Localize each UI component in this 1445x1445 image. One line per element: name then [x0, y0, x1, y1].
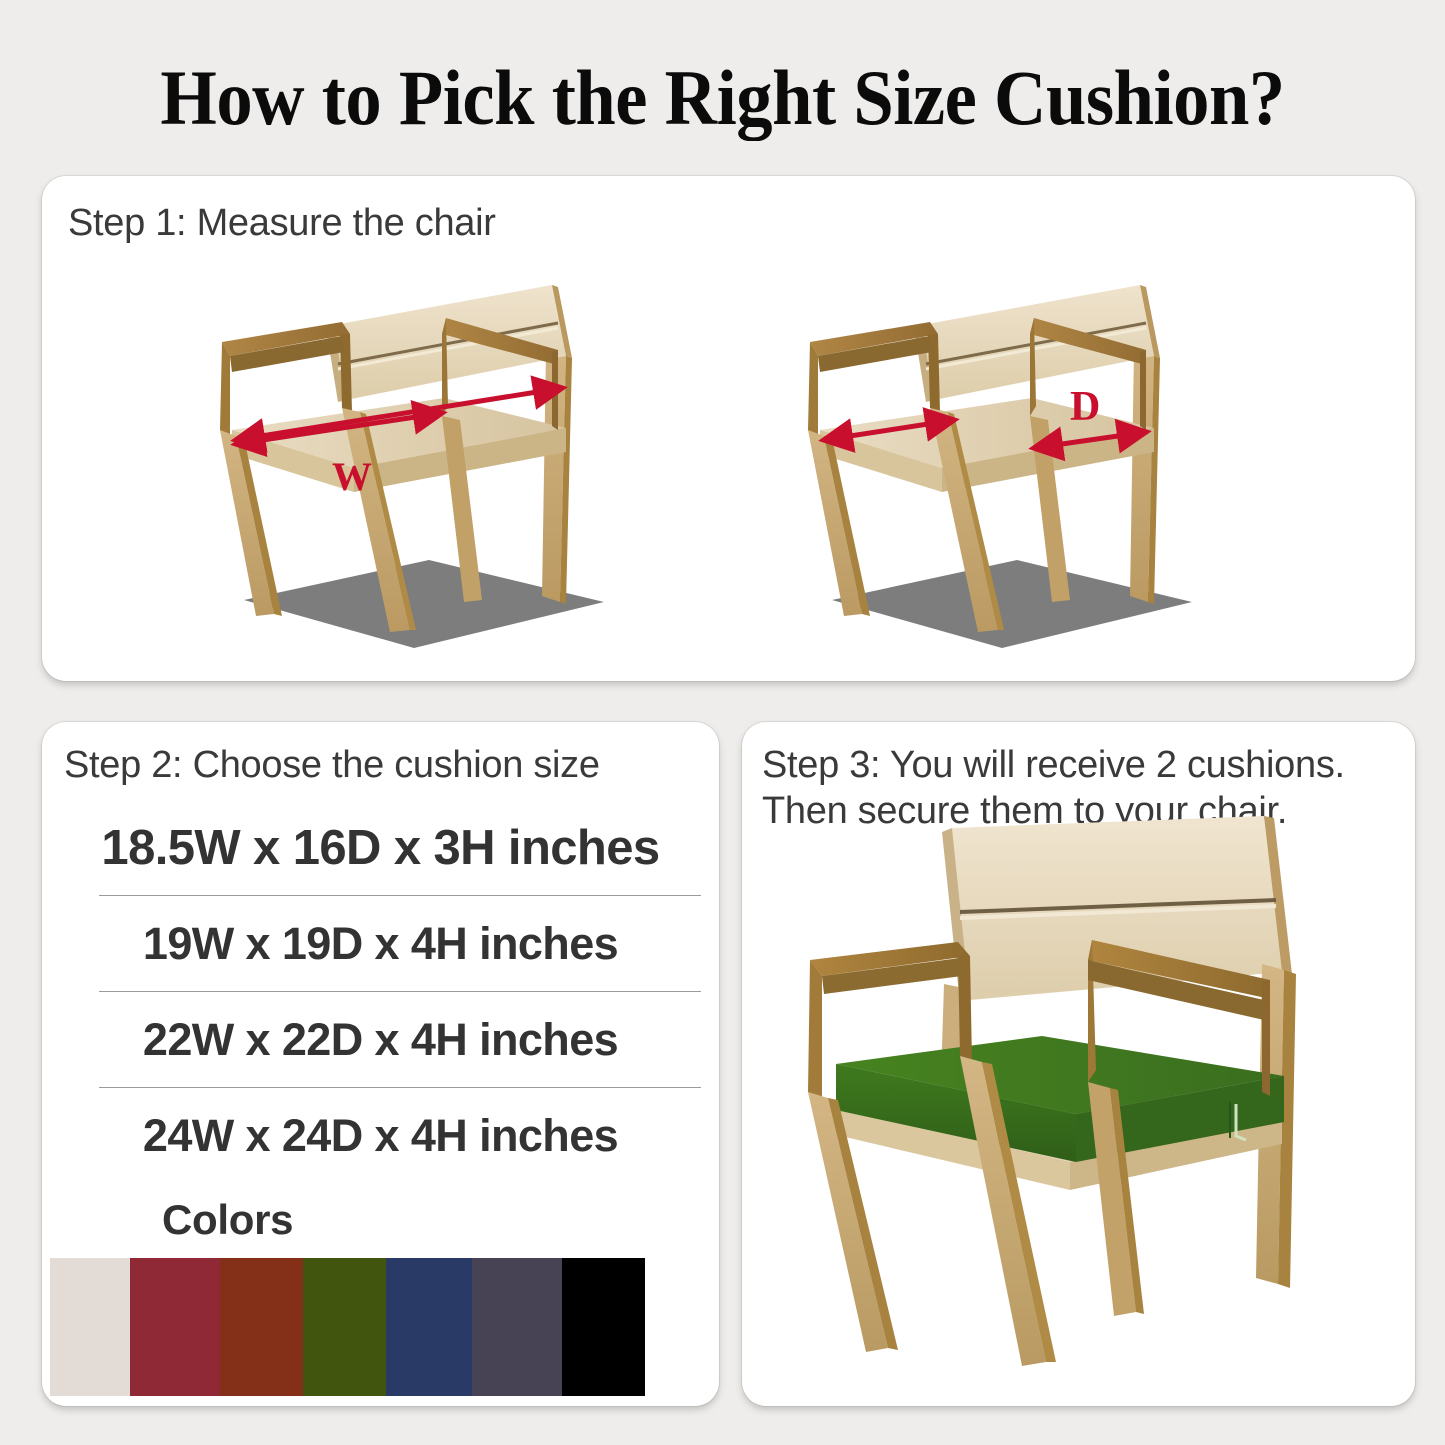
- step2-label: Step 2: Choose the cushion size: [64, 742, 600, 788]
- color-swatch-charcoal[interactable]: [472, 1258, 561, 1396]
- size-option-row[interactable]: 24W x 24D x 4H inches: [42, 1088, 719, 1184]
- color-swatch-black[interactable]: [562, 1258, 645, 1396]
- step1-card: Step 1: Measure the chair: [42, 176, 1415, 681]
- chair-width-illustration: W: [214, 230, 634, 650]
- page-title: How to Pick the Right Size Cushion?: [51, 56, 1395, 140]
- color-swatch-cream[interactable]: [50, 1258, 130, 1396]
- depth-marker-label: D: [1070, 384, 1100, 430]
- color-swatch-strip: [50, 1258, 645, 1396]
- size-option-row[interactable]: 19W x 19D x 4H inches: [42, 896, 719, 992]
- size-option-label: 22W x 22D x 4H inches: [143, 1014, 618, 1066]
- size-option-label: 18.5W x 16D x 3H inches: [101, 820, 659, 876]
- width-marker-label: W: [332, 454, 372, 499]
- size-option-row[interactable]: 18.5W x 16D x 3H inches: [42, 800, 719, 896]
- color-swatch-rust[interactable]: [220, 1258, 303, 1396]
- color-swatch-navy[interactable]: [386, 1258, 472, 1396]
- color-swatch-crimson[interactable]: [130, 1258, 219, 1396]
- size-option-row[interactable]: 22W x 22D x 4H inches: [42, 992, 719, 1088]
- cushion-size-list: 18.5W x 16D x 3H inches 19W x 19D x 4H i…: [42, 800, 719, 1184]
- infographic-page: How to Pick the Right Size Cushion? Step…: [0, 0, 1445, 1445]
- step2-card: Step 2: Choose the cushion size 18.5W x …: [42, 722, 719, 1406]
- color-swatch-olive[interactable]: [303, 1258, 386, 1396]
- size-option-label: 19W x 19D x 4H inches: [143, 918, 618, 970]
- step3-card: Step 3: You will receive 2 cushions. The…: [742, 722, 1415, 1406]
- step1-illustrations: W: [42, 230, 1415, 680]
- size-option-label: 24W x 24D x 4H inches: [143, 1110, 618, 1162]
- chair-depth-illustration: D: [802, 230, 1222, 650]
- chair-with-cushion-illustration: [784, 814, 1374, 1374]
- colors-label: Colors: [162, 1196, 293, 1244]
